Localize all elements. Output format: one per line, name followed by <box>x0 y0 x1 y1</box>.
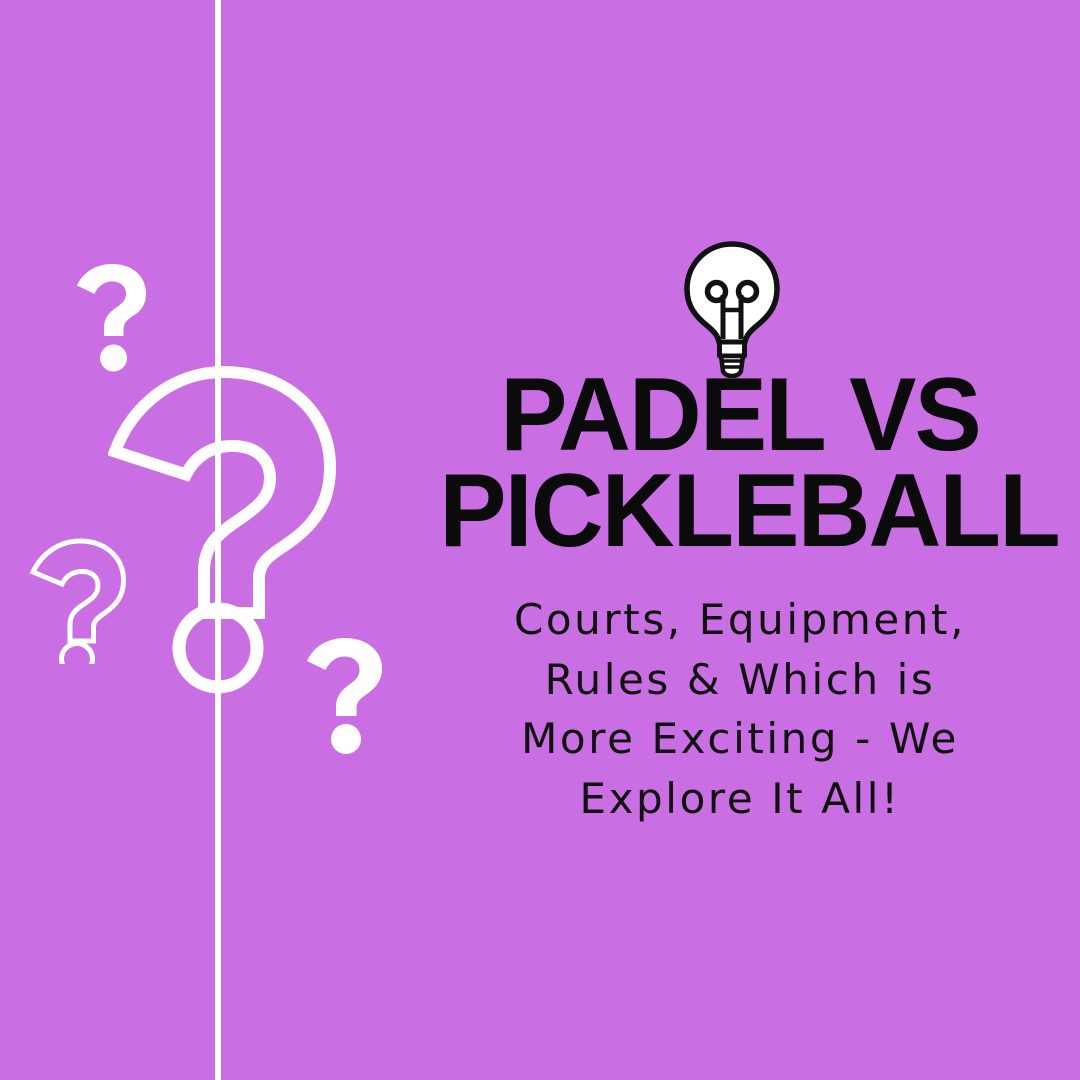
page-subtitle-line-1: Courts, Equipment, <box>430 590 1050 650</box>
question-mark-small-solid-top-icon <box>62 262 162 372</box>
page-subtitle: Courts, Equipment, Rules & Which is More… <box>430 590 1050 829</box>
page-title-line-1: PADEL VS <box>439 368 1040 464</box>
poster-canvas: PADEL VS PICKLEBALL Courts, Equipment, R… <box>0 0 1080 1080</box>
page-title-line-2: PICKLEBALL <box>439 464 1040 560</box>
page-subtitle-line-3: More Exciting - We <box>430 709 1050 769</box>
page-subtitle-line-2: Rules & Which is <box>430 650 1050 710</box>
page-subtitle-line-4: Explore It All! <box>430 769 1050 829</box>
page-title: PADEL VS PICKLEBALL <box>439 368 1040 559</box>
question-mark-small-solid-bottom-icon <box>292 636 396 754</box>
question-mark-small-outline-left-icon <box>28 536 136 664</box>
